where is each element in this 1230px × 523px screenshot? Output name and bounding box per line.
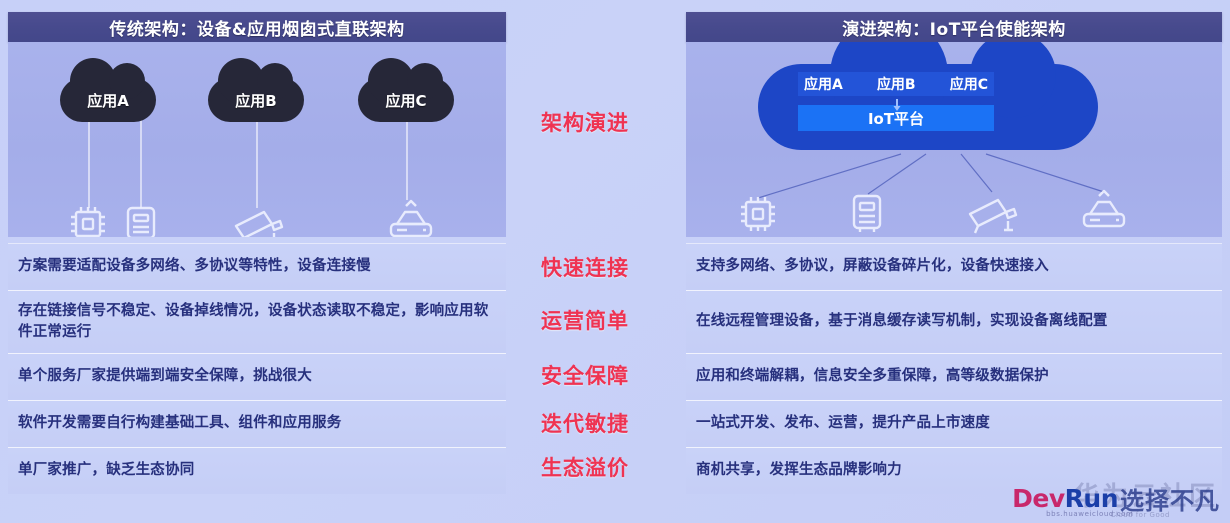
list-item: 在线远程管理设备，基于消息缓存读写机制，实现设备离线配置 <box>686 290 1222 353</box>
chip-icon <box>64 200 112 237</box>
left-panel-header: 传统架构：设备&应用烟囱式直联架构 <box>8 12 506 42</box>
center-label-security: 安全保障 <box>541 360 629 390</box>
app-cloud-a: 应用A <box>60 78 156 122</box>
iot-platform-benefits-list: 支持多网络、多协议，屏蔽设备碎片化，设备快速接入 在线远程管理设备，基于消息缓存… <box>686 243 1222 494</box>
issue-text: 存在链接信号不稳定、设备掉线情况，设备状态读取不稳定，影响应用软件正常运行 <box>18 301 496 343</box>
issue-text: 单厂家推广，缺乏生态协同 <box>18 460 194 481</box>
left-panel-title: 传统架构：设备&应用烟囱式直联架构 <box>109 15 404 40</box>
router-icon <box>1076 182 1132 237</box>
cloud-app-a-label: 应用A <box>804 74 843 94</box>
app-cloud-a-label: 应用A <box>87 90 129 111</box>
list-item: 应用和终端解耦，信息安全多重保障，高等级数据保护 <box>686 353 1222 400</box>
cloud-app-c-label: 应用C <box>950 74 988 94</box>
app-cloud-c: 应用C <box>358 78 454 122</box>
list-item: 单厂家推广，缺乏生态协同 <box>8 447 506 494</box>
center-label-simple-ops: 运营简单 <box>541 305 629 335</box>
list-item: 单个服务厂家提供端到端安全保障，挑战很大 <box>8 353 506 400</box>
camera-icon <box>964 192 1022 237</box>
list-item: 一站式开发、发布、运营，提升产品上市速度 <box>686 400 1222 447</box>
right-panel-title: 演进架构：IoT平台使能架构 <box>842 15 1066 40</box>
camera-icon <box>230 204 288 237</box>
benefit-text: 支持多网络、多协议，屏蔽设备碎片化，设备快速接入 <box>696 256 1049 277</box>
meter-icon <box>844 188 890 237</box>
app-cloud-b-label: 应用B <box>235 90 276 111</box>
benefit-text: 一站式开发、发布、运营，提升产品上市速度 <box>696 413 990 434</box>
app-cloud-b: 应用B <box>208 78 304 122</box>
slide-canvas: 传统架构：设备&应用烟囱式直联架构 应用A 应用B 应用C <box>0 0 1230 523</box>
list-item: 存在链接信号不稳定、设备掉线情况，设备状态读取不稳定，影响应用软件正常运行 <box>8 290 506 353</box>
logo-slogan: 选择不凡 <box>1120 481 1220 516</box>
traditional-architecture-issues-list: 方案需要适配设备多网络、多协议等特性，设备连接慢 存在链接信号不稳定、设备掉线情… <box>8 243 506 494</box>
issue-text: 单个服务厂家提供端到端安全保障，挑战很大 <box>18 366 312 387</box>
iot-platform-architecture-panel: 演进架构：IoT平台使能架构 应用A 应用B 应用C <box>686 12 1222 237</box>
benefit-text: 应用和终端解耦，信息安全多重保障，高等级数据保护 <box>696 366 1049 387</box>
traditional-architecture-panel: 传统架构：设备&应用烟囱式直联架构 应用A 应用B 应用C <box>8 12 506 237</box>
right-panel-diagram: 应用A 应用B 应用C IoT平台 <box>686 42 1222 237</box>
center-headline: 架构演进 <box>541 107 629 137</box>
router-icon <box>383 194 439 237</box>
list-item: 方案需要适配设备多网络、多协议等特性，设备连接慢 <box>8 243 506 290</box>
list-item: 支持多网络、多协议，屏蔽设备碎片化，设备快速接入 <box>686 243 1222 290</box>
issue-text: 软件开发需要自行构建基础工具、组件和应用服务 <box>18 413 341 434</box>
center-label-ecosystem-premium: 生态溢价 <box>541 452 629 482</box>
center-label-fast-connect: 快速连接 <box>541 252 629 282</box>
benefit-text: 在线远程管理设备，基于消息缓存读写机制，实现设备离线配置 <box>696 311 1108 332</box>
cloud-apps-bar: 应用A 应用B 应用C <box>798 72 994 96</box>
logo-dev-text: Dev <box>1012 484 1065 513</box>
logo-run-text: Run <box>1065 484 1118 513</box>
app-cloud-c-label: 应用C <box>385 90 426 111</box>
benefit-text: 商机共享，发挥生态品牌影响力 <box>696 460 902 481</box>
logo-url: bbs.huaweicloud.com <box>1046 510 1133 518</box>
devrun-logo: Dev Run 选择不凡 bbs.huaweicloud.com <box>1012 477 1220 519</box>
meter-icon <box>118 200 164 237</box>
list-item: 软件开发需要自行构建基础工具、组件和应用服务 <box>8 400 506 447</box>
cloud-app-b-label: 应用B <box>877 74 916 94</box>
issue-text: 方案需要适配设备多网络、多协议等特性，设备连接慢 <box>18 256 371 277</box>
arrow-down-icon <box>892 96 902 115</box>
chip-icon <box>734 190 782 237</box>
right-panel-header: 演进架构：IoT平台使能架构 <box>686 12 1222 42</box>
left-panel-diagram: 应用A 应用B 应用C <box>8 42 506 237</box>
center-label-agile-iteration: 迭代敏捷 <box>541 408 629 438</box>
